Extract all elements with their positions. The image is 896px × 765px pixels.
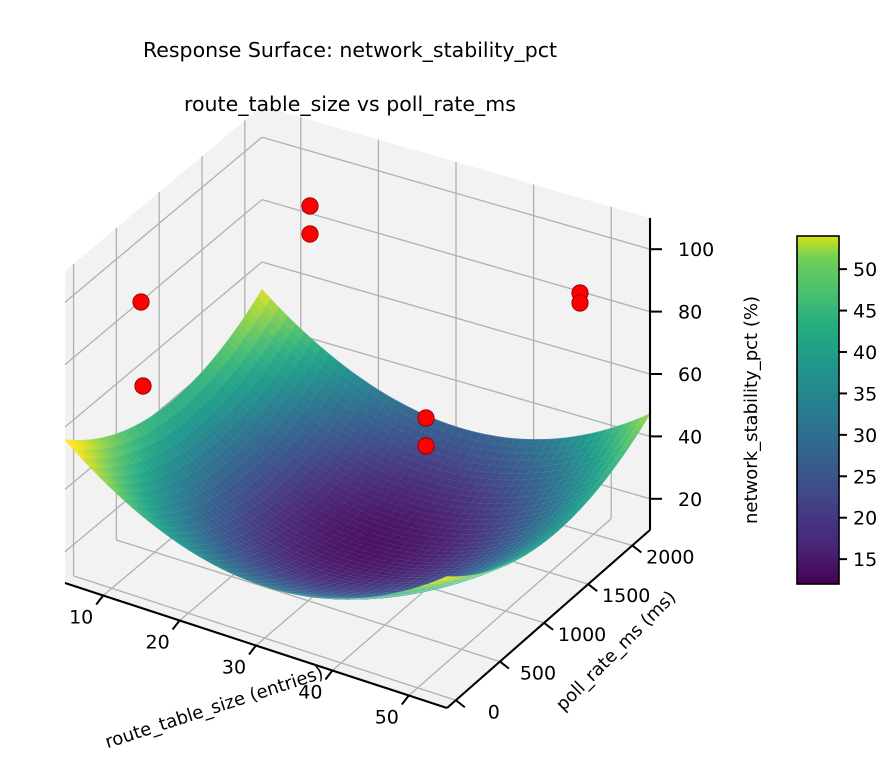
scatter-point[interactable] <box>302 226 318 242</box>
tick-label-z: 100 <box>678 239 714 261</box>
colorbar-tick-label: 30 <box>853 425 877 447</box>
colorbar-tick-label: 45 <box>853 301 877 323</box>
tick-label-z: 20 <box>678 489 702 511</box>
scatter-point[interactable] <box>572 295 588 311</box>
colorbar-tick-label: 40 <box>853 342 877 364</box>
x-axis-title: route_table_size (entries) <box>103 663 327 753</box>
tick-y <box>500 662 509 669</box>
colorbar-tick-label: 15 <box>853 549 877 571</box>
tick-label-y: 0 <box>488 701 500 723</box>
tick-label-z: 40 <box>678 426 702 448</box>
tick-label-y: 2000 <box>646 546 694 568</box>
colorbar-tick-label: 20 <box>853 508 877 530</box>
scatter-point[interactable] <box>418 438 434 454</box>
colorbar-label: network_stability_pct (%) <box>741 296 762 524</box>
tick-x <box>402 696 409 705</box>
colorbar-tick-label: 35 <box>853 383 877 405</box>
tick-y <box>632 545 641 552</box>
title-line-2: route_table_size vs poll_rate_ms <box>184 92 516 116</box>
colorbar-gradient <box>797 236 839 584</box>
colorbar[interactable]: 5045403530252015 network_stability_pct (… <box>741 236 877 584</box>
tick-x <box>96 596 103 605</box>
figure-3d-response-surface: Response Surface: network_stability_pct … <box>0 0 896 765</box>
colorbar-ticks: 5045403530252015 <box>839 259 877 571</box>
tick-label-x: 50 <box>375 707 399 729</box>
tick-label-x: 20 <box>146 632 170 654</box>
scatter-point[interactable] <box>133 294 149 310</box>
tick-y <box>588 584 597 591</box>
tick-label-y: 1000 <box>558 624 606 646</box>
tick-label-x: 30 <box>222 657 246 679</box>
tick-label-z: 60 <box>678 364 702 386</box>
title-line-1: Response Surface: network_stability_pct <box>143 38 557 62</box>
tick-x <box>249 646 256 655</box>
tick-label-z: 80 <box>678 302 702 324</box>
page-title: Response Surface: network_stability_pct … <box>0 10 700 118</box>
colorbar-tick-label: 50 <box>853 259 877 281</box>
tick-y <box>544 623 553 630</box>
scatter-point[interactable] <box>418 410 434 426</box>
tick-x <box>325 671 332 680</box>
tick-y <box>456 700 465 707</box>
scatter-point[interactable] <box>135 378 151 394</box>
tick-label-y: 500 <box>520 663 556 685</box>
colorbar-tick-label: 25 <box>853 466 877 488</box>
scatter-point[interactable] <box>302 198 318 214</box>
tick-label-y: 1500 <box>602 585 650 607</box>
tick-label-x: 10 <box>69 607 93 629</box>
tick-x <box>173 621 180 630</box>
